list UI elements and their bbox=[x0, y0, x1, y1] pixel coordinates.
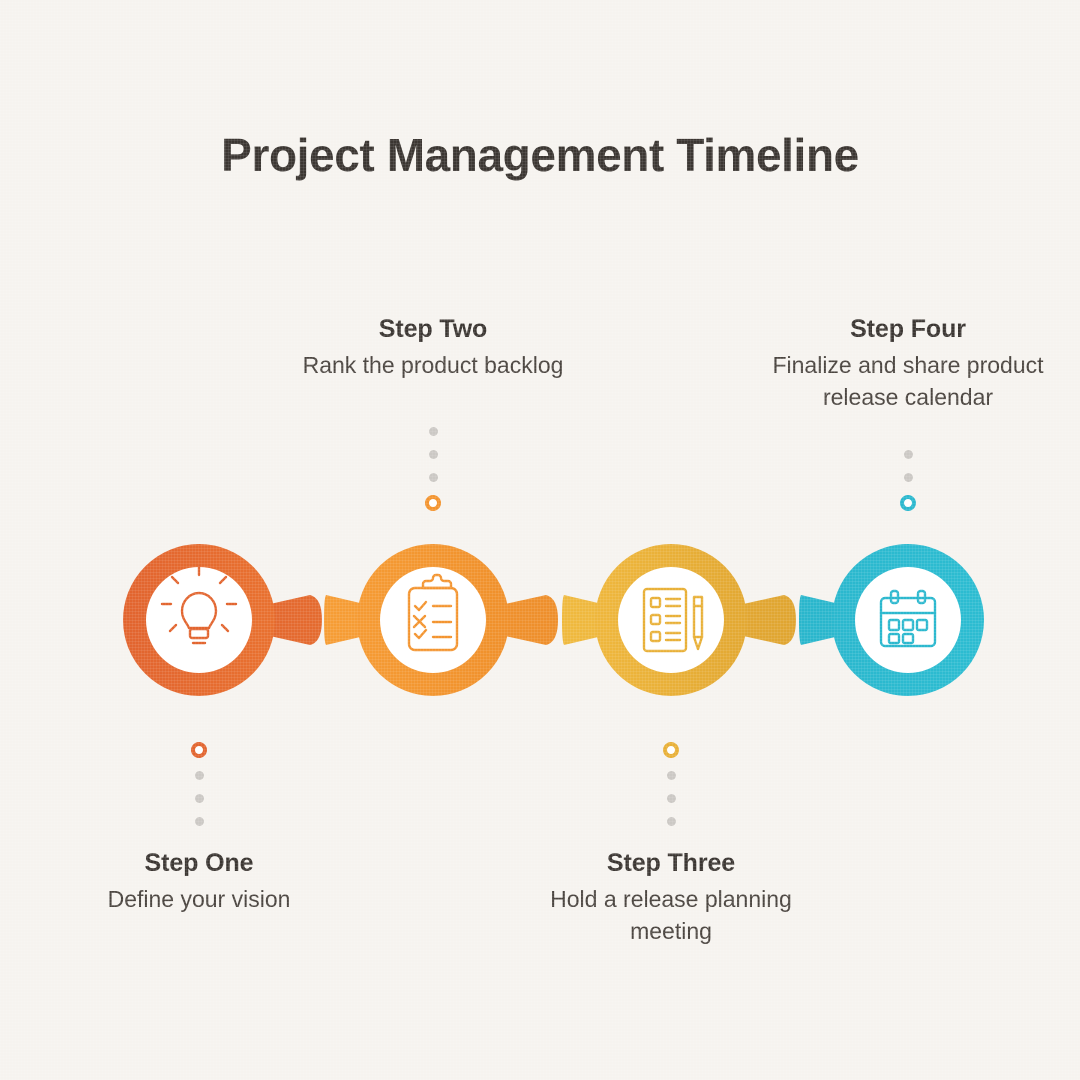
connector-tab-two-right bbox=[433, 595, 558, 645]
step-one-title: Step One bbox=[49, 848, 349, 878]
connector-dot bbox=[195, 771, 204, 780]
connector-tab-two-left bbox=[324, 595, 433, 645]
step-four-disc bbox=[855, 567, 961, 673]
step-three-description: Hold a release planning meeting bbox=[521, 884, 821, 947]
connector-dot bbox=[429, 450, 438, 459]
step-three-connector-dots bbox=[661, 736, 681, 833]
connector-tab-three-left bbox=[562, 595, 671, 645]
step-three-text-block: Step Three Hold a release planning meeti… bbox=[521, 848, 821, 947]
connector-dot bbox=[904, 473, 913, 482]
step-one-disc bbox=[146, 567, 252, 673]
calendar-icon bbox=[881, 591, 935, 646]
step-one-text-block: Step One Define your vision bbox=[49, 848, 349, 916]
step-three-title: Step Three bbox=[521, 848, 821, 878]
connector-tab-three-right bbox=[671, 595, 796, 645]
step-one-connector-dots bbox=[189, 736, 209, 833]
step-one-marker[interactable] bbox=[191, 742, 207, 758]
page-title: Project Management Timeline bbox=[0, 128, 1080, 182]
connector-tab-four-left bbox=[799, 595, 908, 645]
lightbulb-icon bbox=[162, 566, 236, 643]
step-four-description: Finalize and share product release calen… bbox=[758, 350, 1058, 413]
connector-dot bbox=[195, 817, 204, 826]
step-two-description: Rank the product backlog bbox=[283, 350, 583, 382]
connector-tab-one-right bbox=[199, 595, 322, 645]
step-four-marker[interactable] bbox=[900, 495, 916, 511]
connector-dot bbox=[195, 794, 204, 803]
step-two-connector-dots bbox=[423, 420, 443, 517]
step-two-ring[interactable] bbox=[369, 556, 497, 684]
step-two-marker[interactable] bbox=[425, 495, 441, 511]
step-one-ring[interactable] bbox=[135, 556, 263, 684]
step-four-connector-dots bbox=[898, 443, 918, 517]
notepad-pencil-icon bbox=[644, 589, 702, 651]
connector-dot bbox=[667, 771, 676, 780]
step-three-ring[interactable] bbox=[607, 556, 735, 684]
step-two-disc bbox=[380, 567, 486, 673]
step-four-ring[interactable] bbox=[844, 556, 972, 684]
step-two-text-block: Step Two Rank the product backlog bbox=[283, 314, 583, 382]
step-four-text-block: Step Four Finalize and share product rel… bbox=[758, 314, 1058, 413]
step-two-title: Step Two bbox=[283, 314, 583, 344]
connector-dot bbox=[904, 450, 913, 459]
infographic-canvas: Project Management Timeline bbox=[0, 0, 1080, 1080]
clipboard-checklist-icon bbox=[409, 575, 457, 650]
step-three-marker[interactable] bbox=[663, 742, 679, 758]
connector-dot bbox=[667, 794, 676, 803]
connector-dot bbox=[429, 427, 438, 436]
step-three-disc bbox=[618, 567, 724, 673]
connector-dot bbox=[667, 817, 676, 826]
step-four-title: Step Four bbox=[758, 314, 1058, 344]
step-one-description: Define your vision bbox=[49, 884, 349, 916]
connector-dot bbox=[429, 473, 438, 482]
